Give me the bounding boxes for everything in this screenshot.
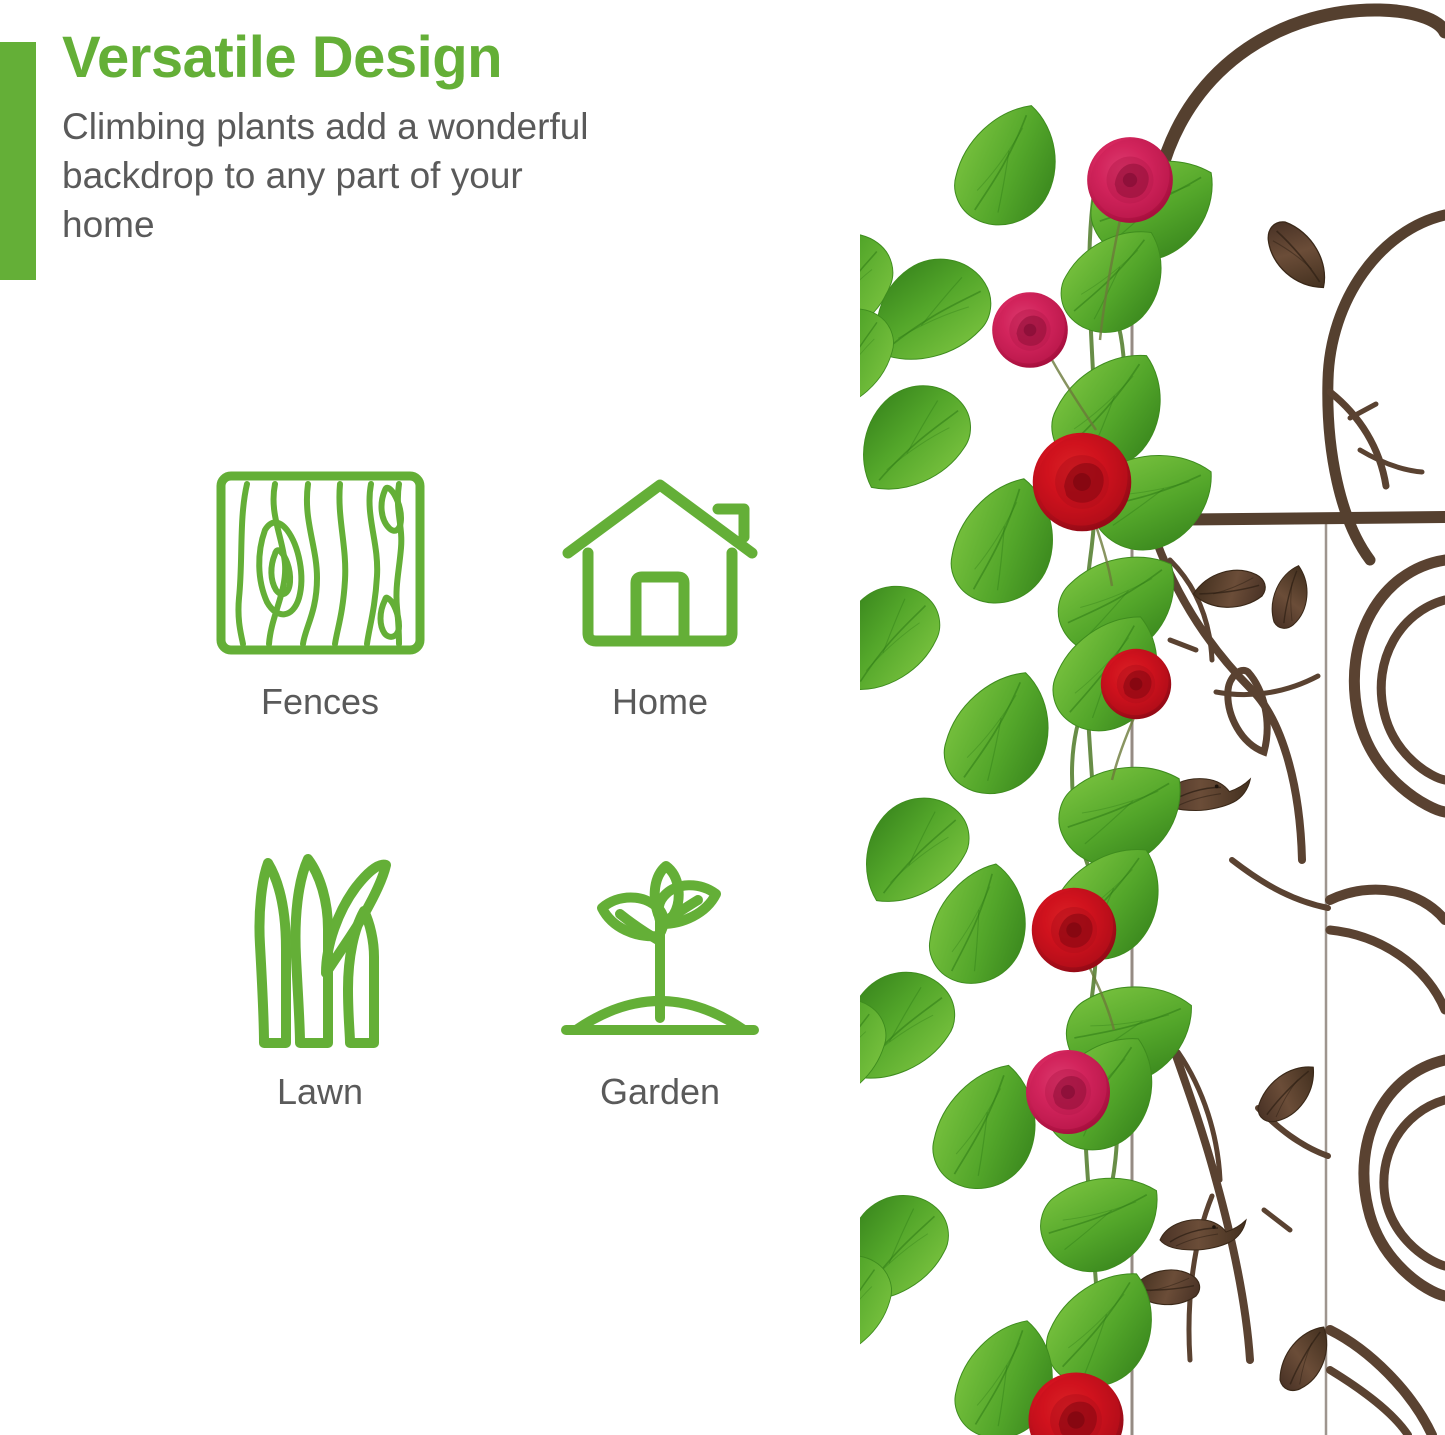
headline-block: Versatile Design Climbing plants add a w… <box>62 28 662 249</box>
page-title: Versatile Design <box>62 28 662 89</box>
grass-icon <box>210 848 430 1058</box>
feature-item-fences: Fences <box>150 450 490 840</box>
brand-accent-bar <box>0 42 36 280</box>
feature-label-garden: Garden <box>600 1074 720 1110</box>
page-subtitle: Climbing plants add a wonderful backdrop… <box>62 103 602 249</box>
marketing-slide: Versatile Design Climbing plants add a w… <box>0 0 1445 1435</box>
feature-item-garden: Garden <box>490 840 830 1230</box>
left-content-panel: Versatile Design Climbing plants add a w… <box>0 0 880 1435</box>
feature-icon-grid: Fences Home <box>150 450 830 1230</box>
wood-plank-icon <box>210 458 430 668</box>
house-icon <box>550 458 770 668</box>
feature-label-home: Home <box>612 684 708 720</box>
sprout-icon <box>550 848 770 1058</box>
feature-label-fences: Fences <box>261 684 379 720</box>
feature-item-lawn: Lawn <box>150 840 490 1230</box>
feature-item-home: Home <box>490 450 830 840</box>
product-photo-metal-garden-trellis <box>860 0 1445 1435</box>
feature-label-lawn: Lawn <box>277 1074 363 1110</box>
